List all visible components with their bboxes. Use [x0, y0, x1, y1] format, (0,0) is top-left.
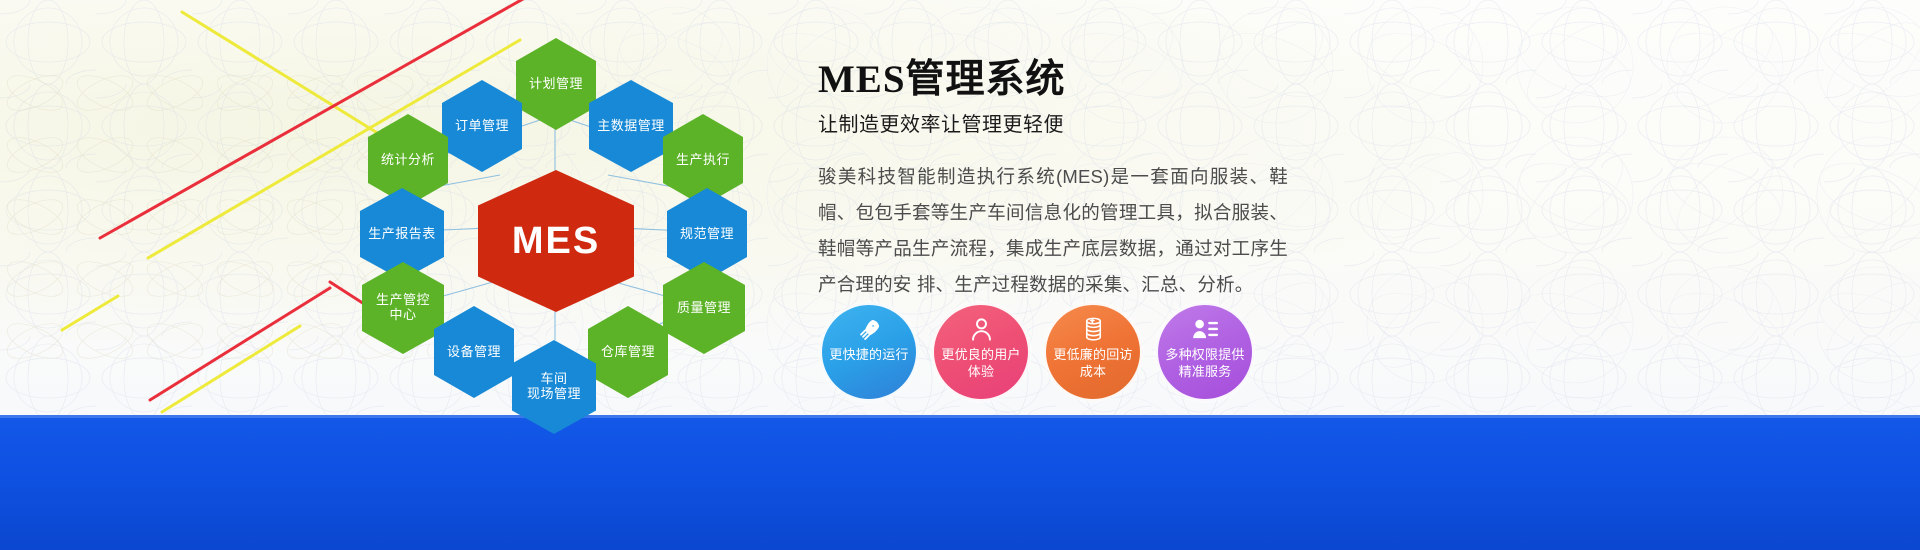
hex-node-label: 订单管理 [455, 119, 509, 134]
hex-node-label: 主数据管理 [597, 119, 665, 134]
coins-icon [1080, 316, 1107, 343]
rocket-icon [856, 316, 883, 343]
user-icon [968, 316, 995, 343]
user-list-icon [1191, 316, 1219, 343]
background-bottom-blue [0, 415, 1920, 550]
hex-node-label: 质量管理 [677, 301, 731, 316]
hex-node-label: 仓库管理 [601, 345, 655, 360]
feature-badge-label: 多种权限提供 精准服务 [1159, 346, 1251, 380]
feature-badge-faster-operation[interactable]: 更快捷的运行 [820, 303, 918, 401]
mes-hex-diagram: 计划管理 订单管理 主数据管理 统计分析 生产执行 生产报告表 规范管理 生产管… [330, 10, 800, 440]
page-description: 骏美科技智能制造执行系统(MES)是一套面向服装、鞋帽、包包手套等生产车间信息化… [818, 159, 1288, 303]
hex-node-label: 规范管理 [680, 227, 734, 242]
hex-node-label: 车间 现场管理 [527, 372, 581, 401]
hex-center-label: MES [512, 220, 600, 263]
hex-node-label: 计划管理 [529, 77, 583, 92]
feature-badge-multi-permission[interactable]: 多种权限提供 精准服务 [1156, 303, 1254, 401]
hex-node-label: 设备管理 [447, 345, 501, 360]
hex-node-label: 生产执行 [676, 153, 730, 168]
feature-badge-list: 更快捷的运行 更优良的用户 体验 [820, 303, 1254, 401]
feature-badge-label: 更低廉的回访 成本 [1047, 346, 1139, 380]
hex-node-label: 生产管控 中心 [376, 293, 430, 322]
page-subtitle: 让制造更效率让管理更轻便 [818, 108, 1288, 137]
hex-node-label: 生产报告表 [368, 227, 436, 242]
mes-banner: 计划管理 订单管理 主数据管理 统计分析 生产执行 生产报告表 规范管理 生产管… [0, 0, 1920, 550]
feature-badge-better-experience[interactable]: 更优良的用户 体验 [932, 303, 1030, 401]
hex-node-label: 统计分析 [381, 153, 435, 168]
page-title: MES管理系统 [818, 58, 1288, 102]
feature-badge-label: 更快捷的运行 [823, 346, 915, 363]
feature-badge-lower-cost[interactable]: 更低廉的回访 成本 [1044, 303, 1142, 401]
banner-text-column: MES管理系统 让制造更效率让管理更轻便 骏美科技智能制造执行系统(MES)是一… [818, 58, 1288, 303]
feature-badge-label: 更优良的用户 体验 [935, 346, 1027, 380]
